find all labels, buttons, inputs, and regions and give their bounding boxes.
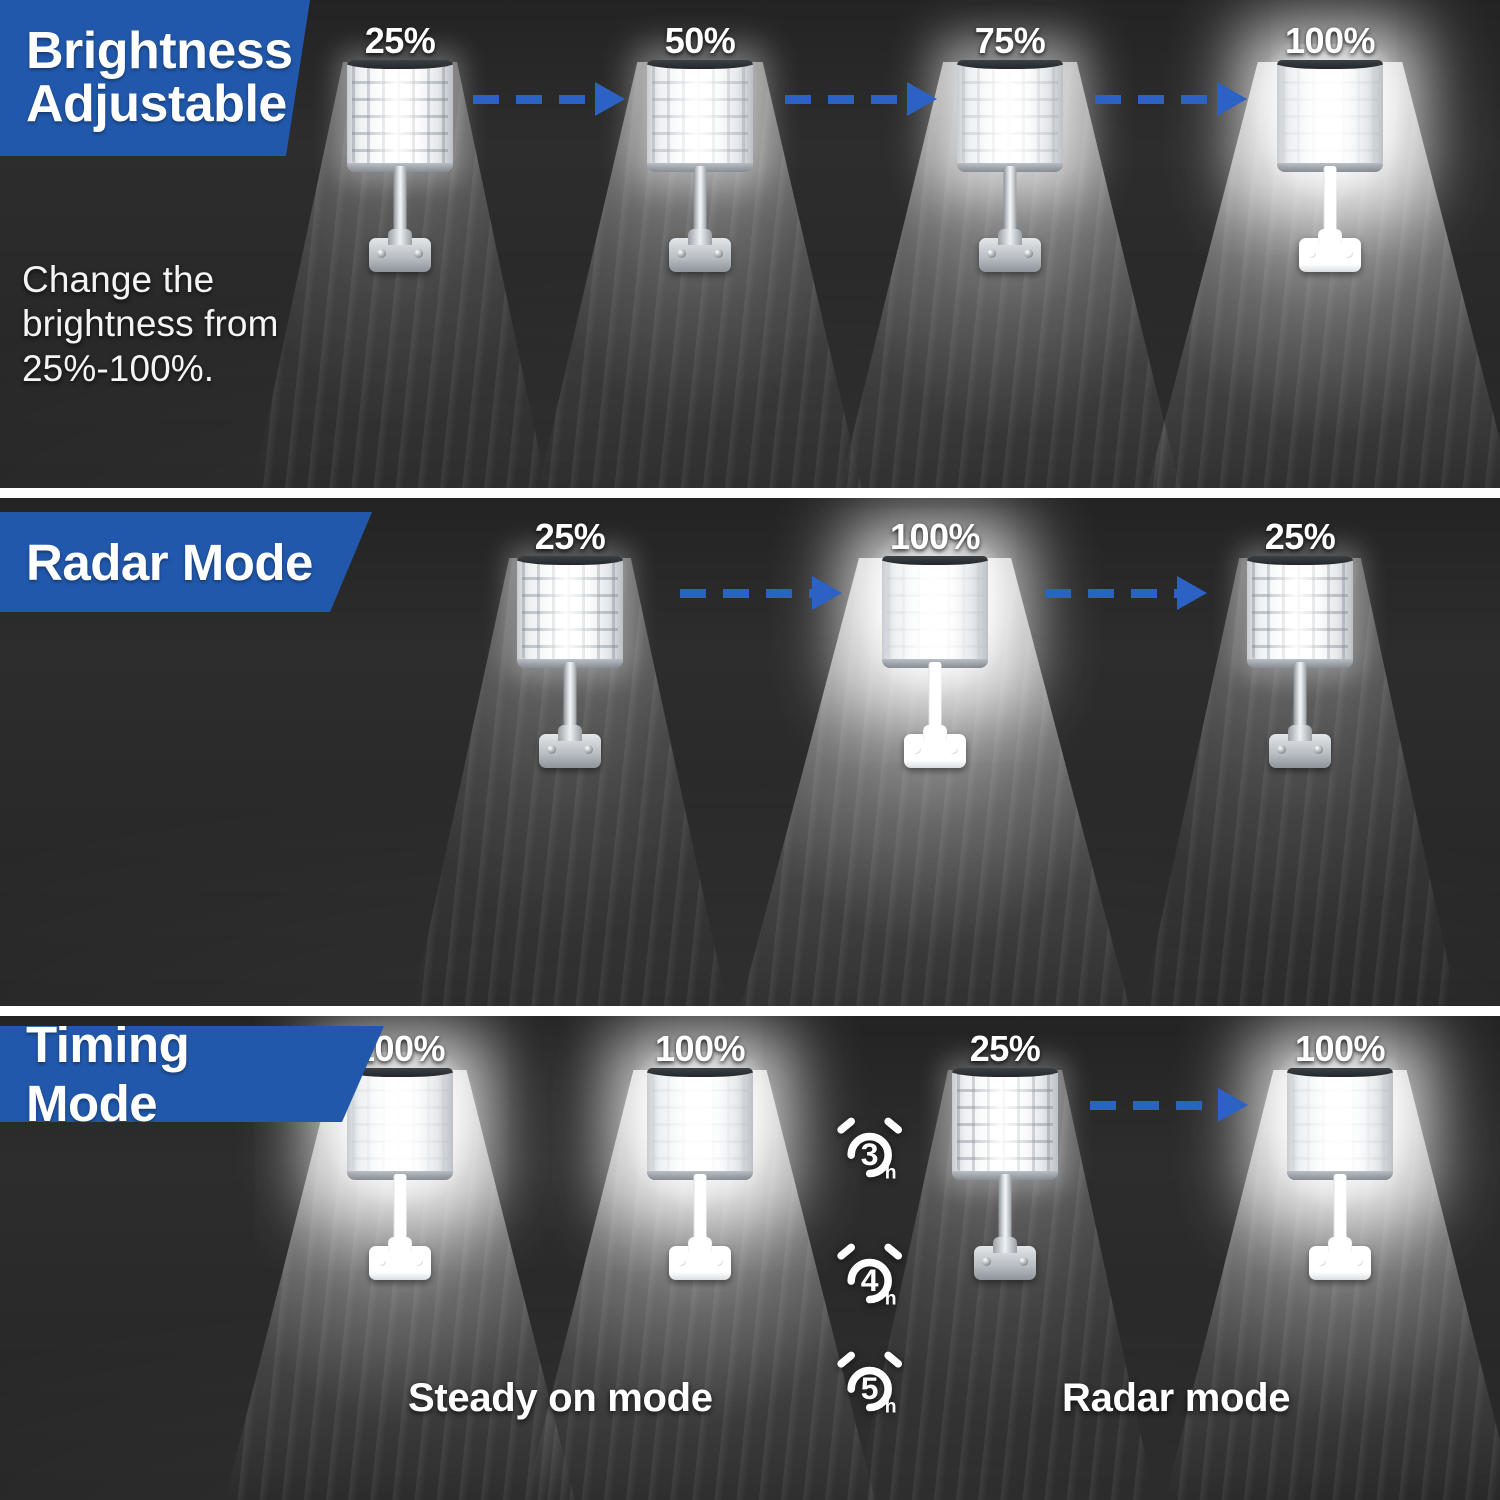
brightness-percent-label: 100%	[890, 516, 980, 558]
timer-value: 3	[861, 1136, 879, 1172]
timer-unit: h	[885, 1289, 897, 1310]
timer-value: 4	[861, 1262, 879, 1298]
wall-bracket	[669, 1246, 731, 1280]
wall-bracket	[539, 734, 601, 768]
infographic-page: Brightness Adjustable Change the brightn…	[0, 0, 1500, 1500]
lamp-head	[1247, 556, 1353, 668]
lamp-head	[952, 1068, 1058, 1180]
lamp-head	[647, 60, 753, 172]
flow-arrow-icon	[785, 88, 937, 110]
banner-title: Brightness Adjustable	[26, 25, 293, 131]
brightness-percent-label: 25%	[365, 20, 436, 62]
lamp-head	[1277, 60, 1383, 172]
caption-steady-on-mode: Steady on mode	[408, 1376, 713, 1421]
timer-value: 5	[861, 1370, 879, 1406]
banner-radar-mode: Radar Mode	[0, 512, 372, 612]
wall-bracket	[904, 734, 966, 768]
brightness-percent-label: 25%	[1265, 516, 1336, 558]
flow-arrow-icon	[1045, 582, 1207, 604]
wall-bracket	[369, 238, 431, 272]
description-brightness: Change the brightness from 25%-100%.	[22, 258, 342, 391]
wall-bracket	[1299, 238, 1361, 272]
section-timing-mode: Timing Mode You can set in to 2/3/4H ste…	[0, 1016, 1500, 1500]
banner-timing-mode: Timing Mode	[0, 1026, 384, 1122]
lamp-head	[517, 556, 623, 668]
section-radar-mode: Radar Mode Keeps the light on at 25% Bri…	[0, 498, 1500, 1006]
flow-arrow-icon	[1095, 88, 1247, 110]
lamp-head	[882, 556, 988, 668]
brightness-percent-label: 50%	[665, 20, 736, 62]
section-brightness-adjustable: Brightness Adjustable Change the brightn…	[0, 0, 1500, 488]
wall-bracket	[369, 1246, 431, 1280]
flow-arrow-icon	[1090, 1094, 1248, 1116]
brightness-percent-label: 100%	[655, 1028, 745, 1070]
wall-bracket	[1269, 734, 1331, 768]
flow-arrow-icon	[473, 88, 625, 110]
section-divider	[0, 488, 1500, 498]
alarm-clock-4h-icon: 4 h	[826, 1234, 910, 1318]
lamp-head	[647, 1068, 753, 1180]
brightness-percent-label: 100%	[1285, 20, 1375, 62]
lamp-head	[957, 60, 1063, 172]
brightness-percent-label: 25%	[970, 1028, 1041, 1070]
timer-unit: h	[885, 1163, 897, 1184]
wall-bracket	[979, 238, 1041, 272]
wall-bracket	[974, 1246, 1036, 1280]
lamp-head	[347, 60, 453, 172]
flow-arrow-icon	[680, 582, 842, 604]
wall-bracket	[669, 238, 731, 272]
banner-title: Timing Mode	[26, 1016, 330, 1133]
brightness-percent-label: 25%	[535, 516, 606, 558]
caption-radar-mode: Radar mode	[1062, 1376, 1290, 1421]
lamp-head	[1287, 1068, 1393, 1180]
section-divider	[0, 1006, 1500, 1016]
banner-brightness-adjustable: Brightness Adjustable	[0, 0, 310, 156]
brightness-percent-label: 75%	[975, 20, 1046, 62]
alarm-clock-5h-icon: 5 h	[826, 1342, 910, 1426]
banner-title: Radar Mode	[26, 533, 313, 592]
alarm-clock-3h-icon: 3 h	[826, 1108, 910, 1192]
brightness-percent-label: 100%	[1295, 1028, 1385, 1070]
lamp-head	[347, 1068, 453, 1180]
timer-unit: h	[885, 1397, 897, 1418]
wall-bracket	[1309, 1246, 1371, 1280]
